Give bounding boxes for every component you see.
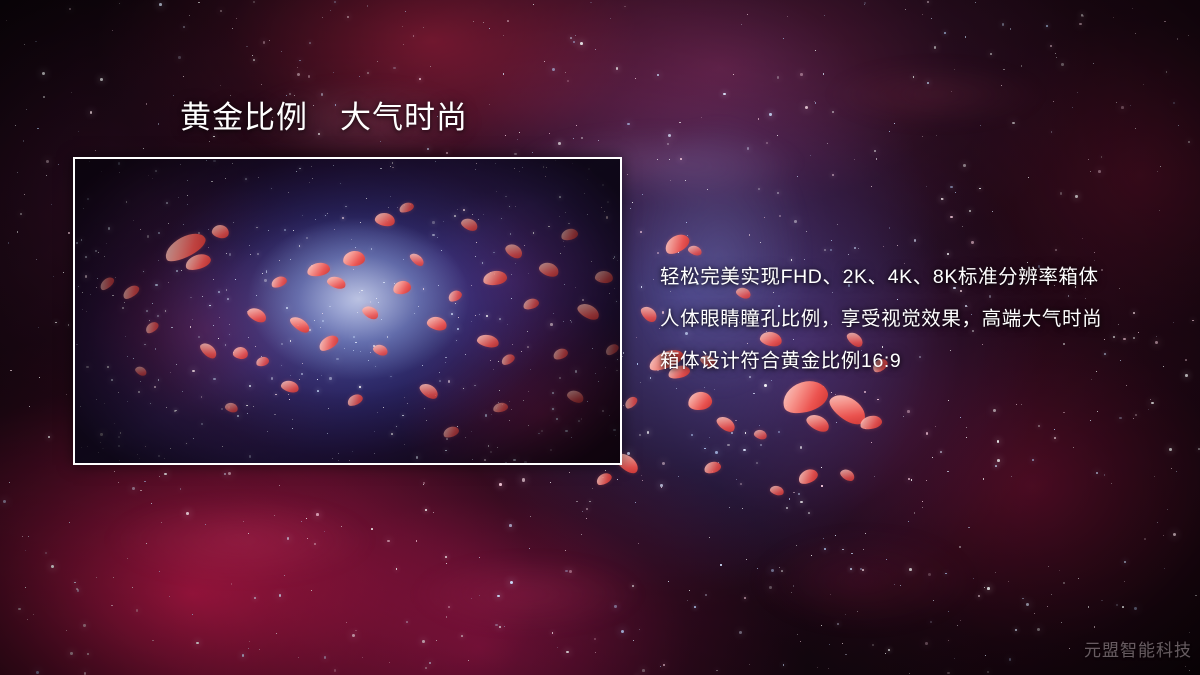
body-text-block: 轻松完美实现FHD、2K、4K、8K标准分辨率箱体 人体眼睛瞳孔比例，享受视觉效… — [660, 256, 1180, 382]
picture-frame — [73, 157, 622, 465]
picture-vignette — [75, 159, 620, 463]
body-text-line-1: 轻松完美实现FHD、2K、4K、8K标准分辨率箱体 — [660, 256, 1180, 298]
presentation-slide: 黄金比例 大气时尚 轻松完美实现FHD、2K、4K、8K标准分辨率箱体 人体眼睛… — [0, 0, 1200, 675]
body-text-line-3: 箱体设计符合黄金比例16:9 — [660, 340, 1180, 382]
body-text-line-2: 人体眼睛瞳孔比例，享受视觉效果，高端大气时尚 — [660, 298, 1180, 340]
watermark: 元盟智能科技 — [1084, 636, 1192, 661]
page-title: 黄金比例 大气时尚 — [180, 101, 468, 135]
